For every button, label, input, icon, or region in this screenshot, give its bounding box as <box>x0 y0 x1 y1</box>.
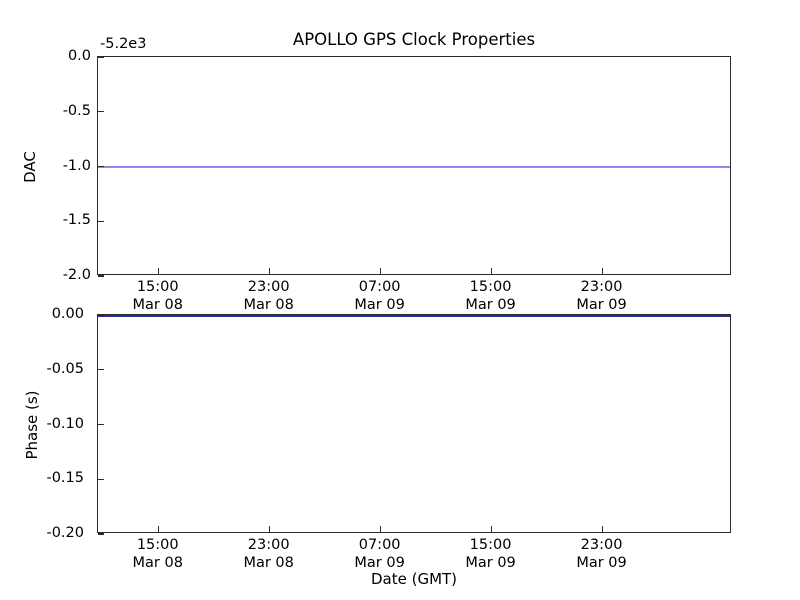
phase-axis-label: Phase (s) <box>23 365 41 485</box>
x-ticklabel: 15:00Mar 09 <box>465 536 515 572</box>
x-ticklabel-date: Mar 09 <box>354 296 404 314</box>
x-tickmark <box>158 268 159 274</box>
x-ticklabel-date: Mar 09 <box>576 296 626 314</box>
y-tickmark <box>98 111 104 112</box>
y-tickmark <box>98 314 104 315</box>
x-ticklabel-time: 23:00 <box>243 536 293 554</box>
x-ticklabel-time: 15:00 <box>465 536 515 554</box>
y-tickmark <box>98 166 104 167</box>
x-ticklabel-date: Mar 08 <box>243 296 293 314</box>
x-tickmark <box>269 268 270 274</box>
dac-axis-label: DAC <box>21 117 39 217</box>
x-ticklabel: 23:00Mar 09 <box>576 536 626 572</box>
x-tickmark <box>491 526 492 532</box>
x-ticklabel-time: 23:00 <box>576 278 626 296</box>
y-tickmark <box>98 56 104 57</box>
x-tickmark <box>158 526 159 532</box>
y-ticklabel: -1.0 <box>63 158 91 174</box>
dac-y-ticklabels: 0.0-0.5-1.0-1.5-2.0 <box>37 56 91 275</box>
x-tickmark <box>380 526 381 532</box>
x-ticklabel: 15:00Mar 09 <box>465 278 515 314</box>
x-ticklabel-time: 07:00 <box>354 536 404 554</box>
x-ticklabel-time: 15:00 <box>133 536 183 554</box>
x-ticklabel-date: Mar 08 <box>133 296 183 314</box>
x-ticklabel-date: Mar 09 <box>465 296 515 314</box>
y-ticklabel: -0.05 <box>46 361 84 377</box>
x-tickmark <box>602 268 603 274</box>
y-tickmark <box>98 221 104 222</box>
dac-plot-area <box>98 57 730 274</box>
x-axis-label: Date (GMT) <box>97 570 731 588</box>
phase-plot-area <box>98 315 730 532</box>
y-tickmark <box>98 533 104 534</box>
x-tickmark <box>269 526 270 532</box>
chart-title: APOLLO GPS Clock Properties <box>97 30 731 49</box>
x-ticklabel-time: 23:00 <box>243 278 293 296</box>
dac-data-line <box>98 166 730 168</box>
dac-plot-axes <box>97 56 731 275</box>
x-ticklabel: 23:00Mar 09 <box>576 278 626 314</box>
x-ticklabel: 23:00Mar 08 <box>243 278 293 314</box>
x-tickmark <box>491 268 492 274</box>
y-ticklabel: -0.20 <box>46 525 84 541</box>
x-tickmark <box>380 268 381 274</box>
y-ticklabel: -0.10 <box>46 416 84 432</box>
phase-plot-axes <box>97 314 731 533</box>
y-tickmark <box>98 424 104 425</box>
x-ticklabel: 07:00Mar 09 <box>354 278 404 314</box>
y-tickmark <box>98 275 104 276</box>
x-ticklabel: 15:00Mar 08 <box>133 536 183 572</box>
dac-y-offset-label: -5.2e3 <box>100 36 146 52</box>
x-ticklabel: 15:00Mar 08 <box>133 278 183 314</box>
y-tickmark <box>98 369 104 370</box>
y-ticklabel: 0.00 <box>52 306 84 322</box>
phase-data-line <box>98 315 730 317</box>
x-ticklabel-time: 07:00 <box>354 278 404 296</box>
x-ticklabel-time: 15:00 <box>465 278 515 296</box>
x-ticklabel-time: 23:00 <box>576 536 626 554</box>
y-ticklabel: -0.5 <box>63 103 91 119</box>
y-ticklabel: -2.0 <box>63 267 91 283</box>
x-tickmark <box>602 526 603 532</box>
y-ticklabel: 0.0 <box>68 48 91 64</box>
x-ticklabel: 07:00Mar 09 <box>354 536 404 572</box>
y-tickmark <box>98 479 104 480</box>
y-ticklabel: -0.15 <box>46 470 84 486</box>
x-ticklabel-time: 15:00 <box>133 278 183 296</box>
x-ticklabel: 23:00Mar 08 <box>243 536 293 572</box>
y-ticklabel: -1.5 <box>63 212 91 228</box>
figure-canvas: APOLLO GPS Clock Properties -5.2e3 0.0-0… <box>0 0 800 600</box>
